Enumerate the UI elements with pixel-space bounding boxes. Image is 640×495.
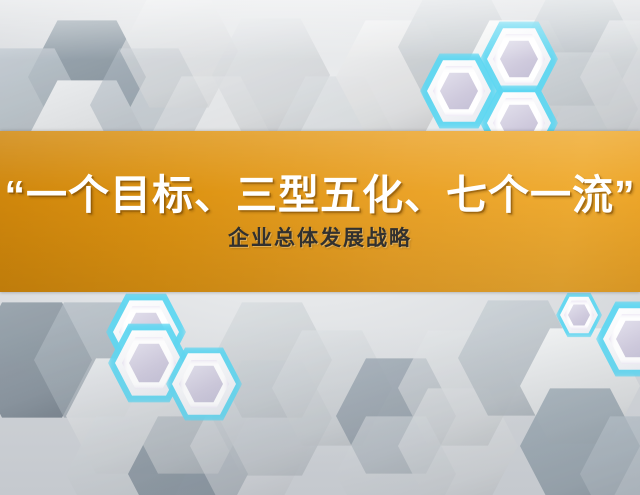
glow-hex-br2 [556, 292, 602, 338]
title-band: “一个目标、三型五化、七个一流” 企业总体发展战略 [0, 131, 640, 292]
presentation-slide: “一个目标、三型五化、七个一流” 企业总体发展战略 [0, 0, 640, 495]
slide-title: “一个目标、三型五化、七个一流” [5, 175, 636, 216]
slide-subtitle: 企业总体发展战略 [228, 228, 412, 249]
glow-hex-bl3 [166, 346, 242, 422]
title-band-content: “一个目标、三型五化、七个一流” 企业总体发展战略 [0, 131, 640, 292]
glow-hex-br1 [596, 300, 640, 378]
